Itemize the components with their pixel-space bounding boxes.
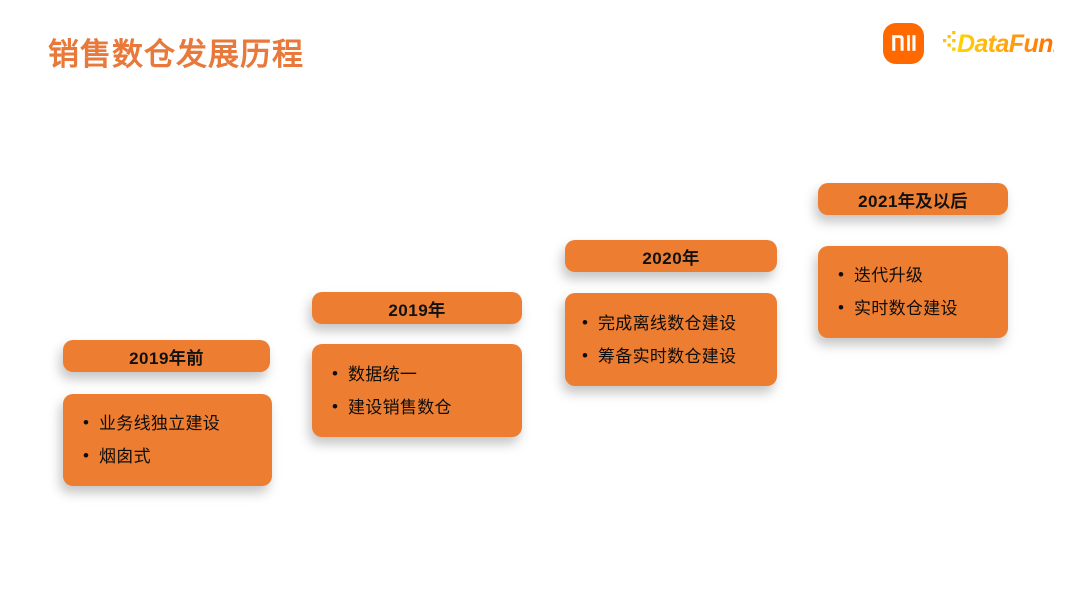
bullet-label: 建设销售数仓	[348, 399, 522, 416]
svg-text:DataFun.: DataFun.	[957, 30, 1054, 58]
bullet-icon: •	[322, 365, 348, 382]
logo-bar: DataFun.	[883, 22, 1054, 64]
step-3-header: 2020年	[565, 240, 777, 272]
step-3-body: • 完成离线数仓建设 • 筹备实时数仓建设	[565, 293, 777, 386]
list-item: • 建设销售数仓	[312, 391, 522, 424]
bullet-icon: •	[73, 447, 99, 464]
list-item: • 迭代升级	[818, 259, 1008, 292]
bullet-icon: •	[322, 398, 348, 415]
xiaomi-logo	[883, 23, 924, 64]
list-item: • 烟囱式	[63, 440, 272, 473]
list-item: • 数据统一	[312, 358, 522, 391]
bullet-icon: •	[572, 314, 598, 331]
list-item: • 筹备实时数仓建设	[565, 340, 777, 373]
bullet-label: 业务线独立建设	[99, 415, 272, 432]
bullet-label: 数据统一	[348, 366, 522, 383]
bullet-label: 筹备实时数仓建设	[598, 348, 777, 365]
bullet-label: 迭代升级	[854, 267, 1008, 284]
bullet-icon: •	[73, 414, 99, 431]
datafun-logo: DataFun.	[942, 26, 1054, 60]
list-item: • 完成离线数仓建设	[565, 307, 777, 340]
step-2-header: 2019年	[312, 292, 522, 324]
list-item: • 业务线独立建设	[63, 407, 272, 440]
bullet-icon: •	[572, 347, 598, 364]
step-1-header: 2019年前	[63, 340, 270, 372]
bullet-icon: •	[828, 299, 854, 316]
list-item: • 实时数仓建设	[818, 292, 1008, 325]
step-2-body: • 数据统一 • 建设销售数仓	[312, 344, 522, 437]
bullet-label: 实时数仓建设	[854, 300, 1008, 317]
step-4-header: 2021年及以后	[818, 183, 1008, 215]
bullet-label: 完成离线数仓建设	[598, 315, 777, 332]
slide-canvas: 销售数仓发展历程	[0, 0, 1080, 608]
bullet-icon: •	[828, 266, 854, 283]
step-4-body: • 迭代升级 • 实时数仓建设	[818, 246, 1008, 338]
step-1-body: • 业务线独立建设 • 烟囱式	[63, 394, 272, 486]
bullet-label: 烟囱式	[99, 448, 272, 465]
page-title: 销售数仓发展历程	[48, 36, 304, 75]
